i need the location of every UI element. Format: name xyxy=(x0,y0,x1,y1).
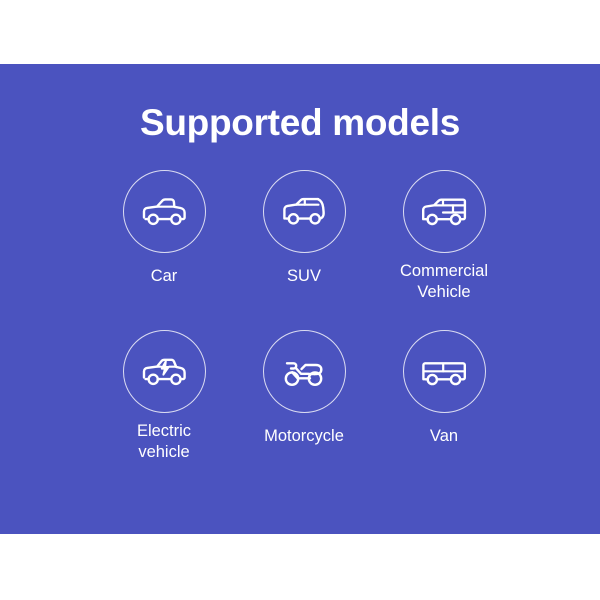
vehicle-item-motorcycle[interactable]: Motorcycle xyxy=(234,330,374,447)
vehicle-label: Motorcycle xyxy=(239,426,369,447)
van-icon-circle[interactable] xyxy=(403,330,486,413)
vehicle-grid: Car xyxy=(94,170,514,490)
commercial-vehicle-icon xyxy=(419,195,469,229)
vehicle-label: Commercial Vehicle xyxy=(379,261,509,303)
suv-icon xyxy=(280,194,328,230)
electric-vehicle-icon-circle[interactable] xyxy=(123,330,206,413)
supported-models-panel: Supported models Car xyxy=(0,64,600,534)
vehicle-label: Car xyxy=(99,266,229,287)
page-title: Supported models xyxy=(0,104,600,143)
car-icon xyxy=(140,195,188,229)
van-icon xyxy=(419,356,469,388)
vehicle-label: Electric vehicle xyxy=(99,421,229,463)
vehicle-item-commercial-vehicle[interactable]: Commercial Vehicle xyxy=(374,170,514,303)
motorcycle-icon-circle[interactable] xyxy=(263,330,346,413)
vehicle-label: SUV xyxy=(239,266,369,287)
vehicle-row: Car xyxy=(94,170,514,330)
vehicle-item-electric-vehicle[interactable]: Electric vehicle xyxy=(94,330,234,463)
commercial-vehicle-icon-circle[interactable] xyxy=(403,170,486,253)
vehicle-item-suv[interactable]: SUV xyxy=(234,170,374,287)
car-icon-circle[interactable] xyxy=(123,170,206,253)
vehicle-row: Electric vehicle M xyxy=(94,330,514,490)
vehicle-item-van[interactable]: Van xyxy=(374,330,514,447)
vehicle-item-car[interactable]: Car xyxy=(94,170,234,287)
vehicle-label: Van xyxy=(379,426,509,447)
electric-vehicle-icon xyxy=(140,355,188,389)
motorcycle-icon xyxy=(281,354,327,390)
suv-icon-circle[interactable] xyxy=(263,170,346,253)
slide-root: Supported models Car xyxy=(0,0,600,600)
